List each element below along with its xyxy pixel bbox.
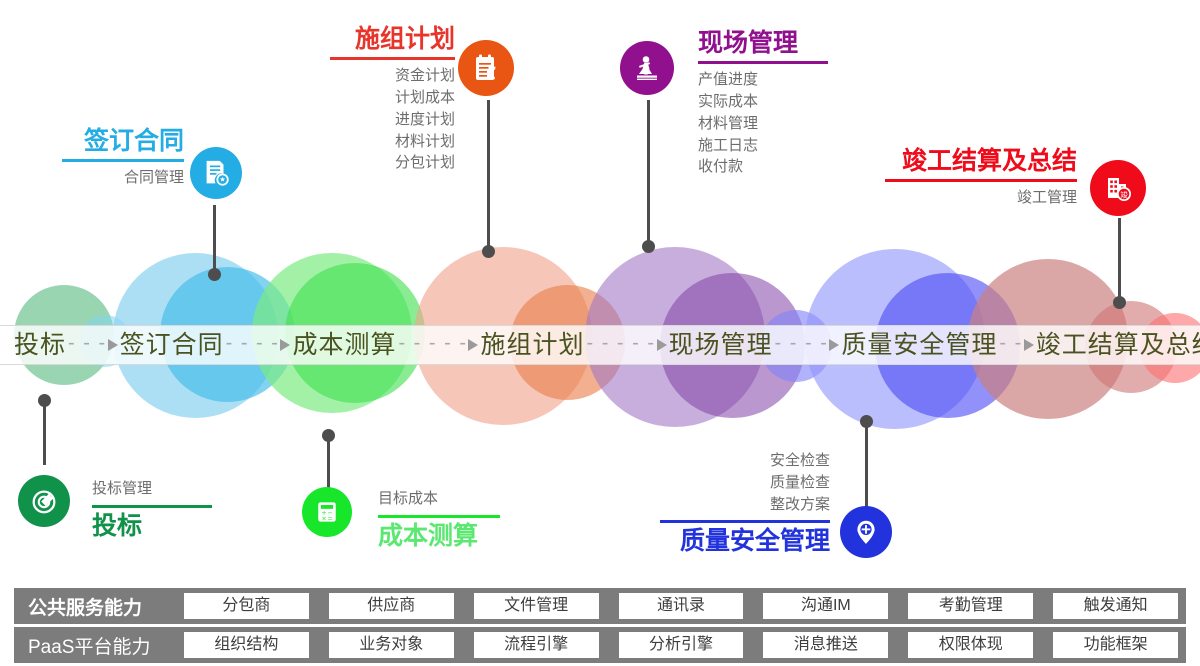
callout-cost-sub-0: 目标成本: [378, 488, 500, 510]
callout-plan-sub-3: 材料计划: [330, 131, 455, 153]
callout-completion-sub-0: 竣工管理: [885, 187, 1077, 209]
flow-arrow-3: - - - - -: [396, 335, 480, 355]
capability-row-public-label: 公共服务能力: [14, 593, 184, 620]
location-pin-plus-icon[interactable]: [840, 506, 892, 558]
flow-arrow-5: - - - -: [773, 335, 842, 355]
callout-cost-rule: [378, 515, 500, 518]
building-complete-icon[interactable]: 竣: [1090, 160, 1146, 216]
connector-dot-bidding: [38, 394, 51, 407]
callout-contract: 签订合同 合同管理: [62, 128, 184, 189]
worker-site-icon[interactable]: [620, 41, 674, 95]
flow-step-completion[interactable]: 竣工结算及总结: [1036, 333, 1200, 358]
svg-text:竣: 竣: [1120, 189, 1128, 199]
connector-line-completion: [1118, 218, 1121, 303]
capability-cell-im[interactable]: 沟通IM: [763, 593, 888, 619]
capability-row-paas: PaaS平台能力 组织结构 业务对象 流程引擎 分析引擎 消息推送 权限体现 功…: [14, 627, 1186, 663]
callout-bidding-title: 投标: [92, 513, 212, 539]
svg-text:×: ×: [321, 514, 326, 522]
connector-line-bidding: [43, 400, 46, 465]
capability-cell-permissions[interactable]: 权限体现: [908, 632, 1033, 658]
connector-line-cost: [327, 435, 330, 490]
callout-cost: 目标成本 成本测算: [378, 488, 500, 549]
capability-cell-contacts[interactable]: 通讯录: [619, 593, 744, 619]
callout-plan-title: 施组计划: [330, 26, 455, 52]
connector-line-quality: [865, 420, 868, 515]
connector-line-contract: [213, 205, 216, 275]
callout-quality-sub-1: 质量检查: [660, 472, 830, 494]
infographic-canvas: 投标 - - - 签订合同 - - - - 成本测算 - - - - - 施组计…: [0, 0, 1200, 666]
connector-line-plan: [487, 100, 490, 252]
capability-cell-subcontractor[interactable]: 分包商: [184, 593, 309, 619]
callout-site-sub-2: 材料管理: [698, 113, 828, 135]
callout-contract-title: 签订合同: [62, 128, 184, 154]
callout-site-sub-3: 施工日志: [698, 135, 828, 157]
callout-contract-rule: [62, 159, 184, 162]
flow-step-site[interactable]: 现场管理: [669, 333, 773, 358]
capability-row-public: 公共服务能力 分包商 供应商 文件管理 通讯录 沟通IM 考勤管理 触发通知: [14, 588, 1186, 624]
callout-plan-sub-0: 资金计划: [330, 65, 455, 87]
capability-cell-trigger-notify[interactable]: 触发通知: [1053, 593, 1178, 619]
callout-site-rule: [698, 61, 828, 64]
connector-line-site: [647, 100, 650, 245]
flow-step-bidding[interactable]: 投标: [14, 333, 66, 358]
capability-cell-file-management[interactable]: 文件管理: [474, 593, 599, 619]
flow-step-cost[interactable]: 成本测算: [292, 333, 396, 358]
callout-quality-title: 质量安全管理: [660, 528, 830, 554]
capability-cell-supplier[interactable]: 供应商: [329, 593, 454, 619]
flow-arrow-2: - - - -: [224, 335, 293, 355]
connector-dot-quality: [860, 415, 873, 428]
capability-cell-business-object[interactable]: 业务对象: [329, 632, 454, 658]
connector-dot-completion: [1113, 296, 1126, 309]
connector-dot-site: [642, 240, 655, 253]
capability-cell-message-push[interactable]: 消息推送: [763, 632, 888, 658]
callout-quality-sub-0: 安全检查: [660, 450, 830, 472]
connector-dot-cost: [322, 429, 335, 442]
capability-row-public-cells: 分包商 供应商 文件管理 通讯录 沟通IM 考勤管理 触发通知: [184, 593, 1186, 619]
svg-text:=: =: [327, 514, 332, 522]
capability-table: 公共服务能力 分包商 供应商 文件管理 通讯录 沟通IM 考勤管理 触发通知 P…: [14, 588, 1186, 666]
flow-step-plan[interactable]: 施组计划: [480, 333, 584, 358]
flow-arrow-1: - - -: [66, 335, 120, 355]
callout-quality-rule: [660, 520, 830, 523]
capability-cell-attendance[interactable]: 考勤管理: [908, 593, 1033, 619]
target-dart-icon[interactable]: [18, 475, 70, 527]
callout-cost-title: 成本测算: [378, 523, 500, 549]
callout-quality-sub-2: 整改方案: [660, 494, 830, 516]
flow-arrow-4: - - - - -: [585, 335, 669, 355]
clipboard-wrench-icon[interactable]: [458, 40, 514, 96]
callout-quality: 安全检查 质量检查 整改方案 质量安全管理: [660, 450, 830, 555]
callout-completion: 竣工结算及总结 竣工管理: [885, 148, 1077, 209]
callout-plan: 施组计划 资金计划 计划成本 进度计划 材料计划 分包计划: [330, 26, 455, 174]
flow-step-contract[interactable]: 签订合同: [120, 333, 224, 358]
callout-bidding: 投标管理 投标: [92, 478, 212, 539]
process-flow-bar: 投标 - - - 签订合同 - - - - 成本测算 - - - - - 施组计…: [0, 325, 1200, 365]
callout-site-sub-0: 产值进度: [698, 69, 828, 91]
capability-row-paas-label: PaaS平台能力: [14, 632, 184, 659]
callout-contract-sub-0: 合同管理: [62, 167, 184, 189]
callout-site-sub-1: 实际成本: [698, 91, 828, 113]
capability-cell-analytics-engine[interactable]: 分析引擎: [619, 632, 744, 658]
connector-dot-plan: [482, 245, 495, 258]
callout-site: 现场管理 产值进度 实际成本 材料管理 施工日志 收付款: [698, 30, 828, 178]
callout-plan-sub-4: 分包计划: [330, 152, 455, 174]
callout-completion-title: 竣工结算及总结: [885, 148, 1077, 174]
connector-dot-contract: [208, 268, 221, 281]
callout-plan-sub-1: 计划成本: [330, 87, 455, 109]
callout-bidding-sub-0: 投标管理: [92, 478, 212, 500]
callout-plan-sub-2: 进度计划: [330, 109, 455, 131]
contract-document-icon[interactable]: [190, 147, 242, 199]
capability-cell-org-structure[interactable]: 组织结构: [184, 632, 309, 658]
capability-row-paas-cells: 组织结构 业务对象 流程引擎 分析引擎 消息推送 权限体现 功能框架: [184, 632, 1186, 658]
callout-site-title: 现场管理: [698, 30, 828, 56]
capability-cell-function-framework[interactable]: 功能框架: [1053, 632, 1178, 658]
flow-step-quality[interactable]: 质量安全管理: [841, 333, 997, 358]
flow-arrow-6: - -: [997, 335, 1035, 355]
calculator-icon[interactable]: + − × =: [302, 487, 352, 537]
callout-bidding-rule: [92, 505, 212, 508]
callout-site-sub-4: 收付款: [698, 156, 828, 178]
capability-cell-workflow-engine[interactable]: 流程引擎: [474, 632, 599, 658]
callout-plan-rule: [330, 57, 455, 60]
callout-completion-rule: [885, 179, 1077, 182]
